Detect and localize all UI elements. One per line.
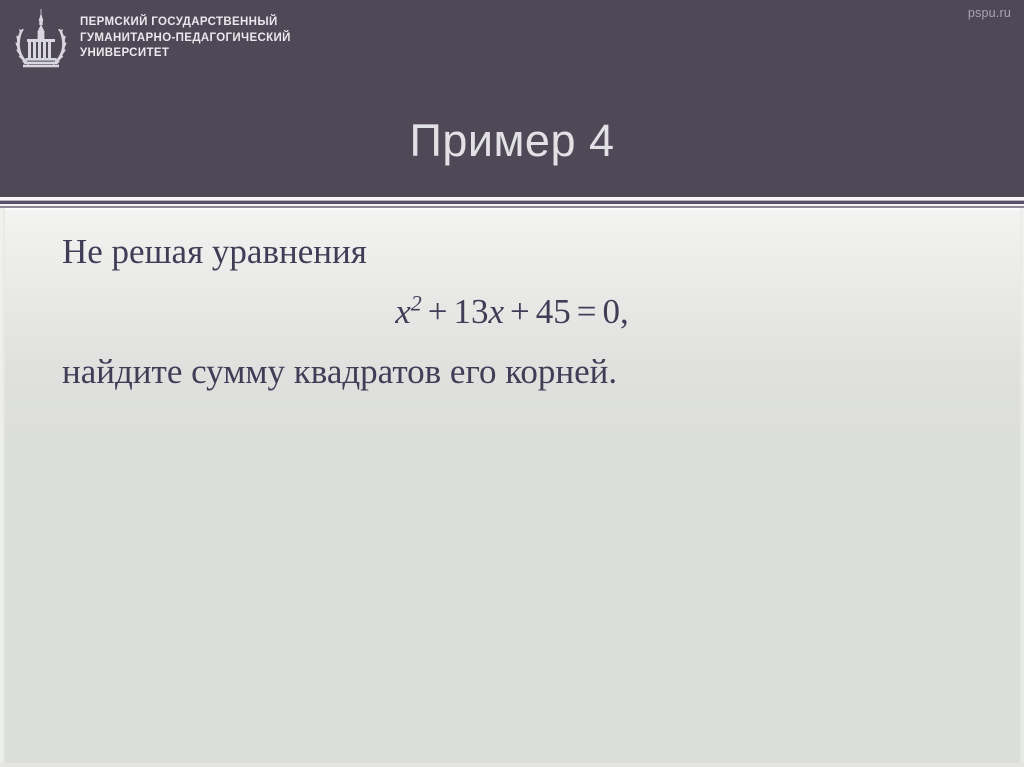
site-url-label: pspu.ru xyxy=(968,6,1011,20)
slide-title: Пример 4 xyxy=(0,113,1024,169)
equation-variable: x xyxy=(395,292,411,331)
slide-header: ПЕРМСКИЙ ГОСУДАРСТВЕННЫЙ ГУМАНИТАРНО-ПЕД… xyxy=(0,0,1024,197)
university-building-wreath-emblem-icon xyxy=(13,9,69,71)
slide: ПЕРМСКИЙ ГОСУДАРСТВЕННЫЙ ГУМАНИТАРНО-ПЕД… xyxy=(0,0,1024,767)
university-name: ПЕРМСКИЙ ГОСУДАРСТВЕННЫЙ ГУМАНИТАРНО-ПЕД… xyxy=(80,9,291,62)
equation-linear-variable: x xyxy=(489,292,505,331)
equation-constant: 45 xyxy=(536,292,571,331)
problem-statement-line-3: найдите сумму квадратов его корней. xyxy=(62,348,617,396)
equation-trailing-comma: , xyxy=(620,292,629,331)
equation-exponent: 2 xyxy=(411,290,422,315)
university-name-line-3: УНИВЕРСИТЕТ xyxy=(80,46,291,62)
bottom-edge-strip xyxy=(0,763,1024,767)
problem-statement-line-1: Не решая уравнения xyxy=(62,228,367,276)
equation-line: x2+13x+45=0, xyxy=(0,288,1024,336)
university-name-line-1: ПЕРМСКИЙ ГОСУДАРСТВЕННЫЙ xyxy=(80,15,291,31)
right-edge-strip xyxy=(1020,208,1024,767)
equation-plus-2: + xyxy=(504,292,536,331)
university-brand: ПЕРМСКИЙ ГОСУДАРСТВЕННЫЙ ГУМАНИТАРНО-ПЕД… xyxy=(13,9,291,71)
slide-body: Не решая уравнения x2+13x+45=0, найдите … xyxy=(0,210,1024,767)
equation-plus-1: + xyxy=(422,292,454,331)
left-edge-strip xyxy=(0,208,5,767)
university-name-line-2: ГУМАНИТАРНО-ПЕДАГОГИЧЕСКИЙ xyxy=(80,31,291,47)
equation-right-side: 0 xyxy=(603,292,621,331)
equation-equals-sign: = xyxy=(571,292,603,331)
equation-coefficient: 13 xyxy=(454,292,489,331)
